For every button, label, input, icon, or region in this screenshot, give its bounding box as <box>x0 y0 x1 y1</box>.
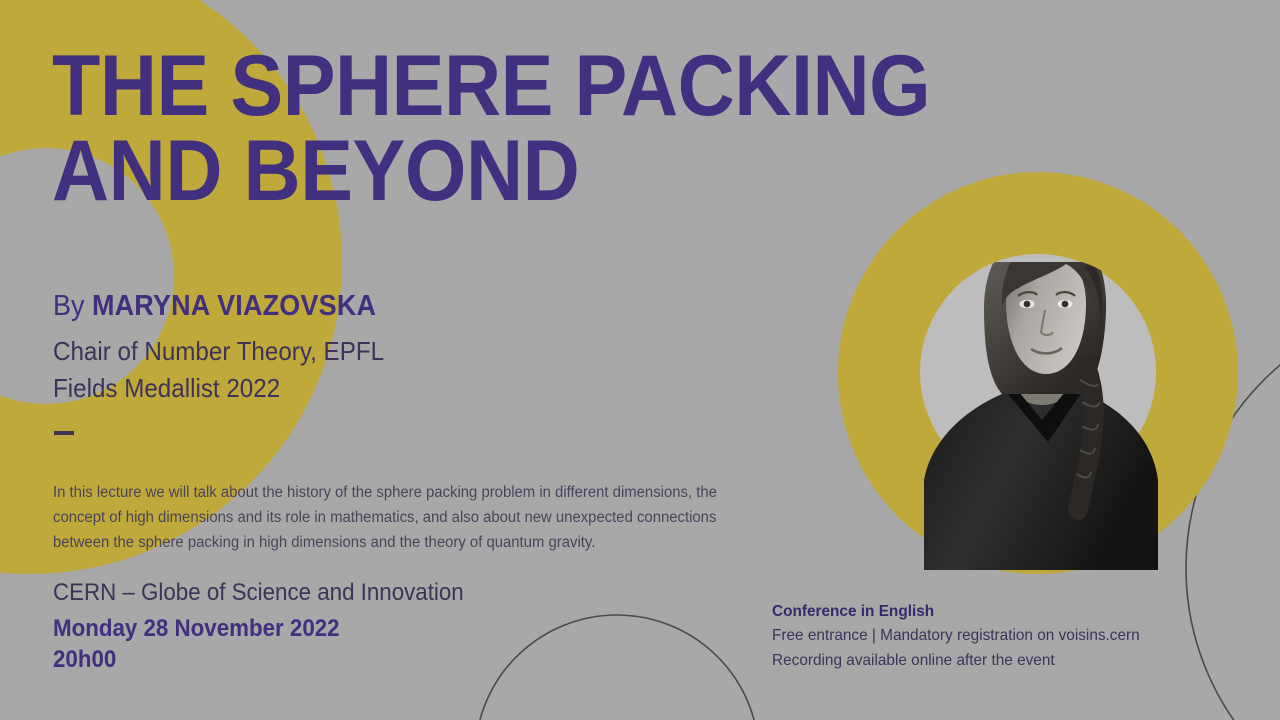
venue-text: CERN – Globe of Science and Innovation <box>53 579 464 607</box>
event-poster: THE SPHERE PACKING AND BEYOND By MARYNA … <box>0 0 1280 720</box>
outline-circle-bottom <box>475 615 759 720</box>
event-date: Monday 28 November 2022 <box>53 615 340 643</box>
speaker-award: Fields Medallist 2022 <box>53 373 280 404</box>
speaker-photo <box>914 180 1164 570</box>
page-title: THE SPHERE PACKING AND BEYOND <box>52 44 1082 214</box>
byline-prefix: By <box>53 290 92 322</box>
practical-info: Conference in English Free entrance | Ma… <box>772 600 1140 673</box>
info-heading: Conference in English <box>772 600 1140 624</box>
info-line-entrance: Free entrance | Mandatory registration o… <box>772 624 1140 648</box>
event-time: 20h00 <box>53 646 116 674</box>
speaker-portrait-group <box>838 172 1238 574</box>
speaker-byline: By MARYNA VIAZOVSKA <box>53 292 376 321</box>
abstract-text: In this lecture we will talk about the h… <box>53 480 754 555</box>
speaker-name: MARYNA VIAZOVSKA <box>92 290 376 322</box>
info-line-recording: Recording available online after the eve… <box>772 649 1140 673</box>
speaker-affiliation: Chair of Number Theory, EPFL <box>53 336 384 367</box>
divider-dash <box>54 431 74 435</box>
